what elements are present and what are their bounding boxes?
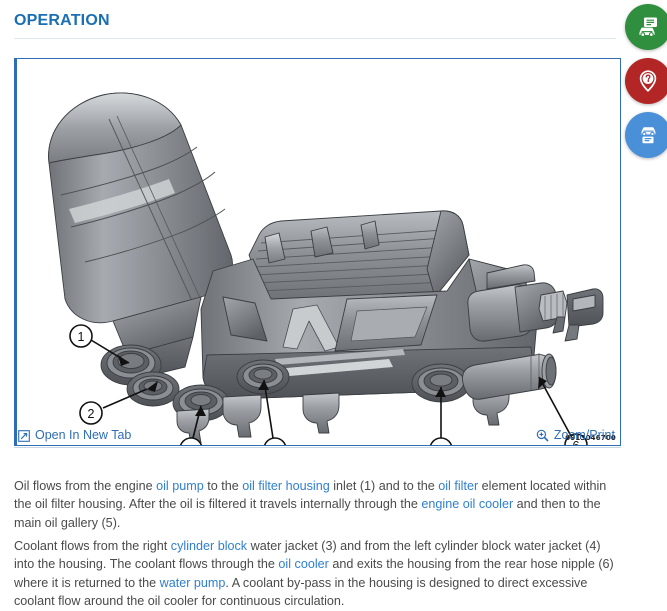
figure-toolbar: Open In New Tab Zoom/Print — [14, 424, 621, 448]
location-pin-question-icon — [636, 69, 660, 93]
link-oil-pump[interactable]: oil pump — [156, 479, 204, 493]
link-oil-cooler[interactable]: oil cooler — [278, 557, 328, 571]
link-oil-filter[interactable]: oil filter — [438, 479, 478, 493]
page-title: OPERATION — [14, 12, 110, 30]
para2-text-1: Coolant flows from the right — [14, 539, 171, 553]
para1-text-1: Oil flows from the engine — [14, 479, 156, 493]
svg-text:1: 1 — [78, 330, 85, 344]
heading-divider — [14, 38, 616, 39]
magnifier-plus-icon — [536, 429, 549, 442]
operation-paragraph-1: Oil flows from the engine oil pump to th… — [14, 477, 614, 533]
operation-paragraph-2: Coolant flows from the right cylinder bl… — [14, 537, 614, 611]
vehicle-print-button[interactable] — [625, 112, 667, 158]
callout-2: 2 — [80, 402, 102, 424]
open-in-new-tab-link[interactable]: Open In New Tab — [18, 429, 131, 442]
link-water-pump[interactable]: water pump — [160, 576, 226, 590]
para1-text-2: to the — [204, 479, 243, 493]
technical-illustration: 1 2 3 4 5 — [17, 59, 620, 445]
link-oil-filter-housing[interactable]: oil filter housing — [242, 479, 330, 493]
link-cylinder-block[interactable]: cylinder block — [171, 539, 247, 553]
car-print-icon — [636, 123, 660, 147]
svg-text:2: 2 — [88, 407, 95, 421]
open-in-new-tab-label: Open In New Tab — [35, 429, 131, 442]
link-engine-oil-cooler[interactable]: engine oil cooler — [421, 497, 513, 511]
vehicle-alert-button[interactable] — [625, 58, 667, 104]
car-document-icon — [636, 15, 660, 39]
zoom-print-link[interactable]: Zoom/Print — [536, 429, 615, 442]
open-in-new-tab-icon — [18, 430, 30, 442]
para1-text-3: inlet (1) and to the — [330, 479, 439, 493]
vehicle-info-button[interactable] — [625, 4, 667, 50]
figure-panel: 1 2 3 4 5 — [14, 58, 621, 446]
zoom-print-label: Zoom/Print — [554, 429, 615, 442]
callout-1: 1 — [70, 325, 92, 347]
